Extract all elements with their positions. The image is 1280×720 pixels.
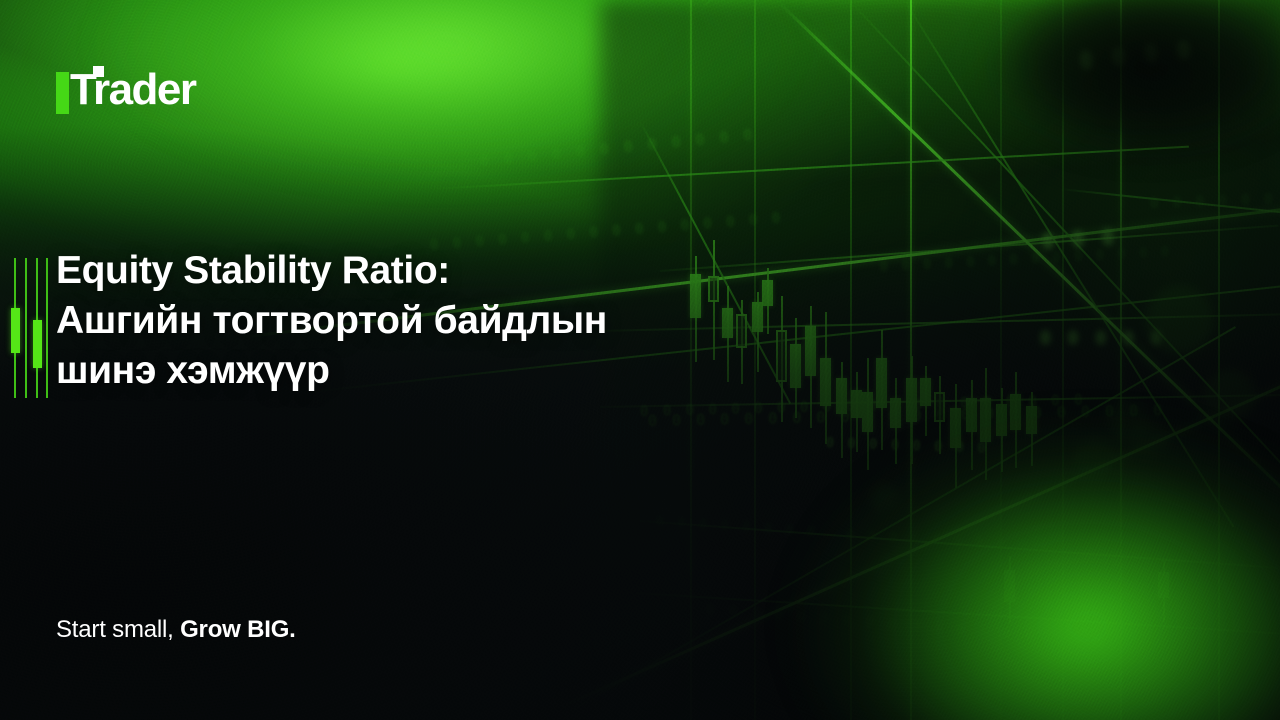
headline-line-3: шинэ хэмжүүр <box>56 346 607 396</box>
accent-candle-body <box>33 320 42 368</box>
headline-line-2: Ашгийн тогтвортой байдлын <box>56 296 607 346</box>
accent-candle-wick <box>25 258 27 398</box>
headline-line-1: Equity Stability Ratio: <box>56 246 607 296</box>
logo-wordmark: Trader <box>70 66 196 114</box>
logo-wordmark-text: Trader <box>70 65 196 114</box>
promo-banner: 0 0 0 0 0 0 0 0 0 0 0 00 0 0 0 0 0 0 0 0… <box>0 0 1280 720</box>
page-title: Equity Stability Ratio: Ашгийн тогтворто… <box>56 246 607 396</box>
itrader-logo[interactable]: Trader <box>56 66 196 114</box>
tagline-bold: Grow BIG. <box>180 616 296 643</box>
logo-tittle-dot-icon <box>93 66 104 77</box>
accent-candle-wick <box>46 258 48 398</box>
accent-candle-body <box>11 308 20 353</box>
brand-tagline: Start small, Grow BIG. <box>56 616 296 644</box>
tagline-normal: Start small, <box>56 616 180 643</box>
logo-i-mark <box>56 72 69 114</box>
candlestick-accent-bars <box>14 258 48 398</box>
